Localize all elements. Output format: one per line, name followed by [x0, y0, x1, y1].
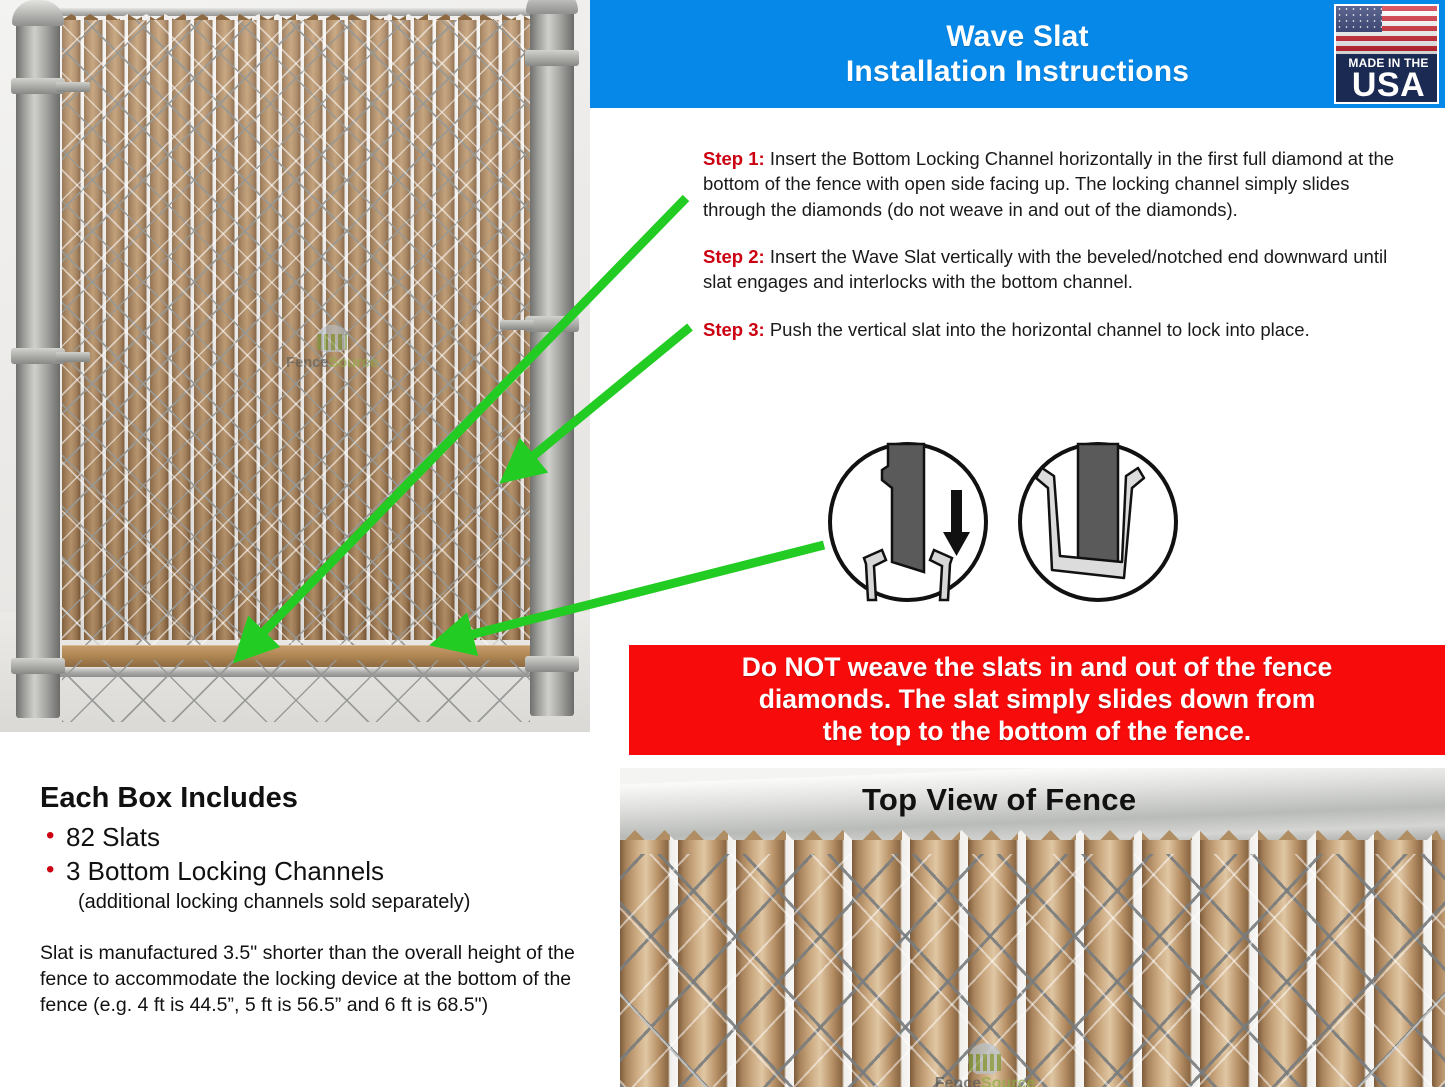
post-arm-left-mid	[56, 352, 90, 362]
warning-line-1: Do NOT weave the slats in and out of the…	[742, 652, 1332, 684]
open-mesh-below-slats	[62, 660, 530, 722]
watermark-text-secondary: Source	[328, 354, 378, 371]
page-title: Wave Slat Installation Instructions	[846, 19, 1189, 90]
step-1-label: Step 1:	[703, 148, 765, 169]
slat-measurement-paragraph: Slat is manufactured 3.5" shorter than t…	[40, 940, 600, 1019]
post-band-right-bottom	[525, 656, 579, 672]
picket-fence-logo-icon	[309, 322, 355, 352]
picket-fence-logo-icon	[960, 1040, 1010, 1074]
step-item-2: Step 2: Insert the Wave Slat vertically …	[703, 244, 1395, 295]
box-contents-section: Each Box Includes 82 Slats 3 Bottom Lock…	[40, 782, 600, 1019]
box-contents-title: Each Box Includes	[40, 782, 600, 815]
top-view-watermark-primary: Fence	[935, 1075, 981, 1087]
step-item-3: Step 3: Push the vertical slat into the …	[703, 317, 1395, 342]
usa-text: USA	[1336, 68, 1439, 102]
warning-line-2: diamonds. The slat simply slides down fr…	[742, 684, 1332, 716]
diagram-slat-inserting	[830, 444, 986, 600]
post-cap-left	[12, 0, 64, 26]
box-contents-item-slats: 82 Slats	[40, 821, 600, 855]
watermark-text-primary: Fence	[286, 354, 328, 371]
made-in-usa-badge: MADE IN THE USA	[1334, 4, 1439, 104]
step-1-text: Insert the Bottom Locking Channel horizo…	[703, 148, 1394, 220]
steps-list: Step 1: Insert the Bottom Locking Channe…	[703, 146, 1395, 364]
top-view-watermark: FenceSource	[920, 1040, 1050, 1087]
title-line-2: Installation Instructions	[846, 54, 1189, 89]
fence-installation-photo: FenceSource	[0, 0, 590, 732]
top-view-photo: Top View of Fence FenceSource	[620, 768, 1445, 1087]
post-arm-left-top	[56, 82, 90, 92]
post-band-right-top	[525, 50, 579, 66]
warning-text: Do NOT weave the slats in and out of the…	[742, 652, 1332, 747]
post-cap-right	[526, 0, 578, 14]
top-view-label: Top View of Fence	[862, 782, 1136, 818]
top-view-watermark-secondary: Source	[981, 1075, 1035, 1087]
warning-line-3: the top to the bottom of the fence.	[742, 716, 1332, 748]
infographic-page: FenceSource Wave Slat Installation Instr…	[0, 0, 1445, 1087]
diagram-slat-locked	[1020, 444, 1176, 600]
step-2-label: Step 2:	[703, 246, 765, 267]
post-band-left-bottom	[11, 658, 65, 674]
fence-post-left	[16, 18, 60, 718]
post-arm-right-mid	[500, 320, 534, 330]
step-item-1: Step 1: Insert the Bottom Locking Channe…	[703, 146, 1395, 222]
fence-post-right	[530, 6, 574, 716]
step-3-text: Push the vertical slat into the horizont…	[765, 319, 1310, 340]
step-3-label: Step 3:	[703, 319, 765, 340]
fencesource-watermark: FenceSource	[272, 322, 392, 392]
american-flag-icon	[1336, 6, 1439, 54]
flag-wave-shading	[1336, 6, 1439, 54]
step-2-text: Insert the Wave Slat vertically with the…	[703, 246, 1387, 292]
box-contents-note: (additional locking channels sold separa…	[40, 891, 600, 914]
page-header: Wave Slat Installation Instructions MADE…	[590, 0, 1445, 108]
warning-banner: Do NOT weave the slats in and out of the…	[629, 645, 1445, 755]
box-contents-item-channels: 3 Bottom Locking Channels	[40, 855, 600, 889]
slat-lock-detail-diagrams	[826, 440, 1186, 605]
title-line-1: Wave Slat	[846, 19, 1189, 54]
